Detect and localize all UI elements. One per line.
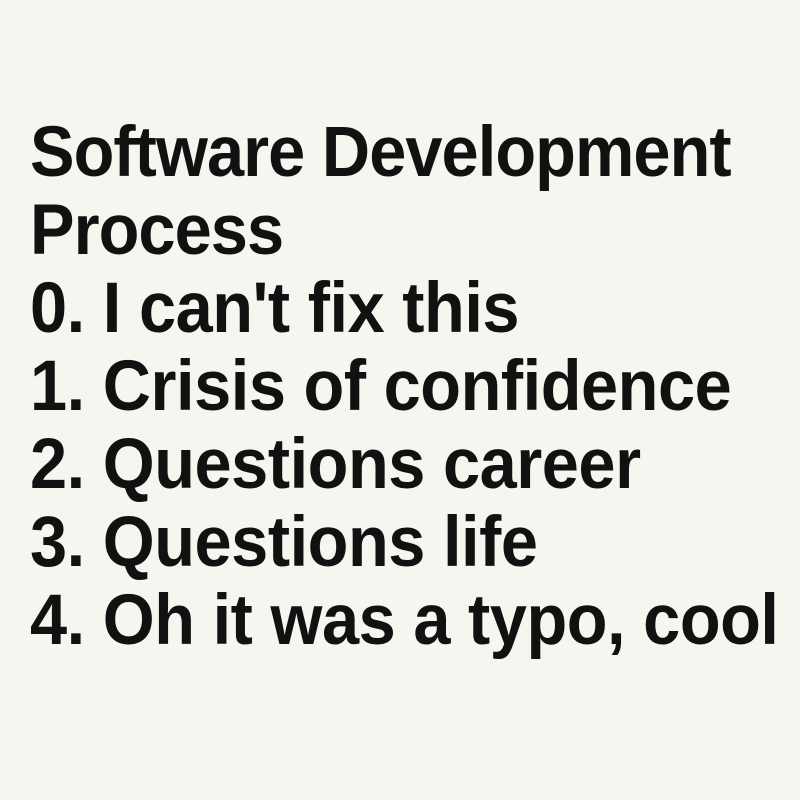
meme-step-4: 4. Oh it was a typo, cool — [30, 582, 741, 660]
meme-step-0: 0. I can't fix this — [30, 270, 741, 348]
meme-text-block: Software Development Process 0. I can't … — [30, 114, 786, 660]
meme-step-2: 2. Questions career — [30, 426, 741, 504]
meme-title-line-1: Software Development — [30, 114, 741, 192]
meme-step-1: 1. Crisis of confidence — [30, 348, 741, 426]
meme-card: Software Development Process 0. I can't … — [0, 0, 800, 800]
meme-title-line-2: Process — [30, 192, 741, 270]
meme-step-3: 3. Questions life — [30, 504, 741, 582]
